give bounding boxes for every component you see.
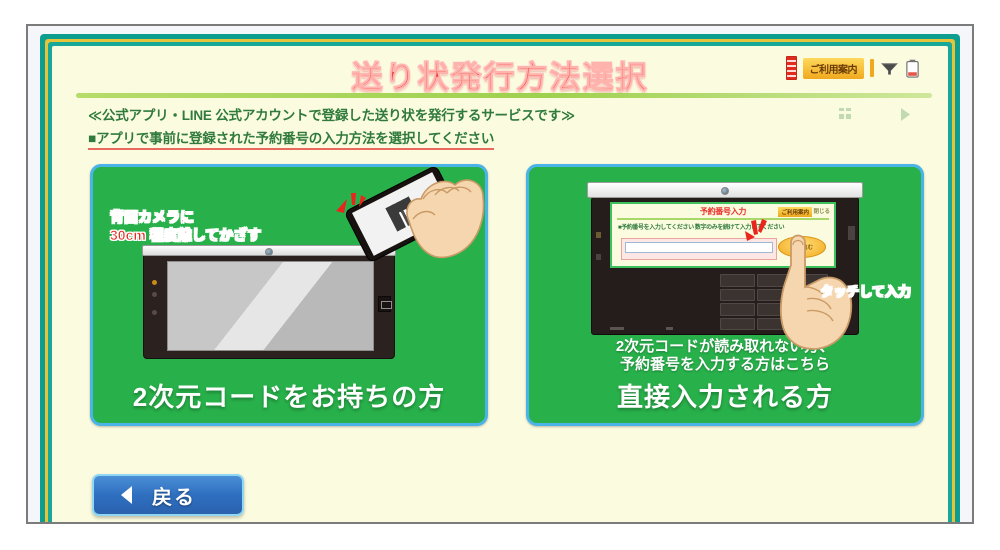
tablet-indicator-dot bbox=[152, 310, 157, 315]
arrow-left-icon bbox=[116, 484, 138, 506]
divider-icon bbox=[870, 59, 874, 77]
keypad-key bbox=[720, 274, 755, 287]
tablet-indicator-dot bbox=[596, 254, 601, 260]
tablet-card-slot-icon bbox=[378, 296, 391, 312]
tablet-camera-icon bbox=[721, 187, 729, 195]
mini-screen-chip: ご利用案内 bbox=[778, 207, 812, 217]
keypad-key bbox=[720, 303, 755, 316]
back-button-label: 戻る bbox=[152, 481, 196, 510]
mini-screen-divider bbox=[617, 218, 829, 220]
tablet-home-bar bbox=[610, 327, 624, 330]
usage-guide-chip[interactable]: ご利用案内 bbox=[803, 58, 865, 79]
wifi-icon bbox=[880, 60, 899, 76]
choice-cards: 背面カメラに 30cm 程度離してかざす bbox=[52, 164, 948, 424]
hand-holding-phone-icon bbox=[393, 169, 488, 279]
illustration-qr-scan: 背面カメラに 30cm 程度離してかざす bbox=[93, 167, 485, 372]
play-arrow-right-icon[interactable] bbox=[899, 107, 912, 122]
frame-border-teal: 送り状発行方法選択 ご利用案内 bbox=[40, 34, 960, 524]
subtitle-line-2: ■アプリで事前に登録された予約番号の入力方法を選択してください bbox=[88, 127, 494, 150]
tablet-indicator-dot bbox=[596, 232, 601, 238]
card-direct-input[interactable]: 予約番号入力 ご利用案内 閉じる ■予約番号を入力してください 数字のみを続けて… bbox=[526, 164, 924, 426]
kiosk-screenshot: 送り状発行方法選択 ご利用案内 bbox=[0, 0, 1000, 550]
kiosk-page: 送り状発行方法選択 ご利用案内 bbox=[52, 46, 948, 524]
mini-nav-controls bbox=[837, 106, 912, 122]
frame-border-gold: 送り状発行方法選択 ご利用案内 bbox=[45, 39, 955, 524]
refresh-icon[interactable] bbox=[837, 106, 853, 122]
tablet-camera-icon bbox=[265, 248, 273, 256]
back-button[interactable]: 戻る bbox=[92, 474, 244, 516]
status-cluster: ご利用案内 bbox=[786, 55, 921, 81]
subtitle-block: ≪公式アプリ・LINE 公式アカウントで登録した送り状を発行するサービスです≫ … bbox=[88, 104, 928, 150]
battery-icon bbox=[905, 59, 920, 78]
tablet-indicator-dot bbox=[152, 292, 157, 297]
card-qr-code[interactable]: 背面カメラに 30cm 程度離してかざす bbox=[90, 164, 488, 426]
subtitle-line-1: ≪公式アプリ・LINE 公式アカウントで登録した送り状を発行するサービスです≫ bbox=[88, 104, 928, 124]
header-divider bbox=[76, 93, 932, 98]
keypad-key bbox=[720, 318, 755, 331]
mini-screen-chip-2: 閉じる bbox=[813, 207, 830, 215]
card-direct-note: タッチして入力 bbox=[820, 281, 911, 300]
tablet-screen bbox=[167, 261, 374, 351]
signal-strength-bar-icon bbox=[786, 56, 797, 80]
card-qr-caption: 2次元コードをお持ちの方 bbox=[93, 377, 485, 414]
tablet-indicator-dot bbox=[152, 280, 157, 285]
tap-flash-icon bbox=[745, 217, 785, 249]
keypad-key bbox=[720, 289, 755, 302]
frame-border-inner-teal: 送り状発行方法選択 ご利用案内 bbox=[48, 42, 952, 524]
header: 送り状発行方法選択 ご利用案内 bbox=[52, 46, 948, 103]
scan-flash-icon bbox=[331, 189, 373, 223]
tablet-home-bar bbox=[666, 327, 673, 330]
card-qr-note: 背面カメラに 30cm 程度離してかざす bbox=[110, 209, 261, 245]
kiosk-outer-frame: 送り状発行方法選択 ご利用案内 bbox=[26, 24, 974, 524]
tablet-device-icon bbox=[143, 253, 395, 359]
card-direct-caption: 直接入力される方 bbox=[529, 377, 921, 414]
